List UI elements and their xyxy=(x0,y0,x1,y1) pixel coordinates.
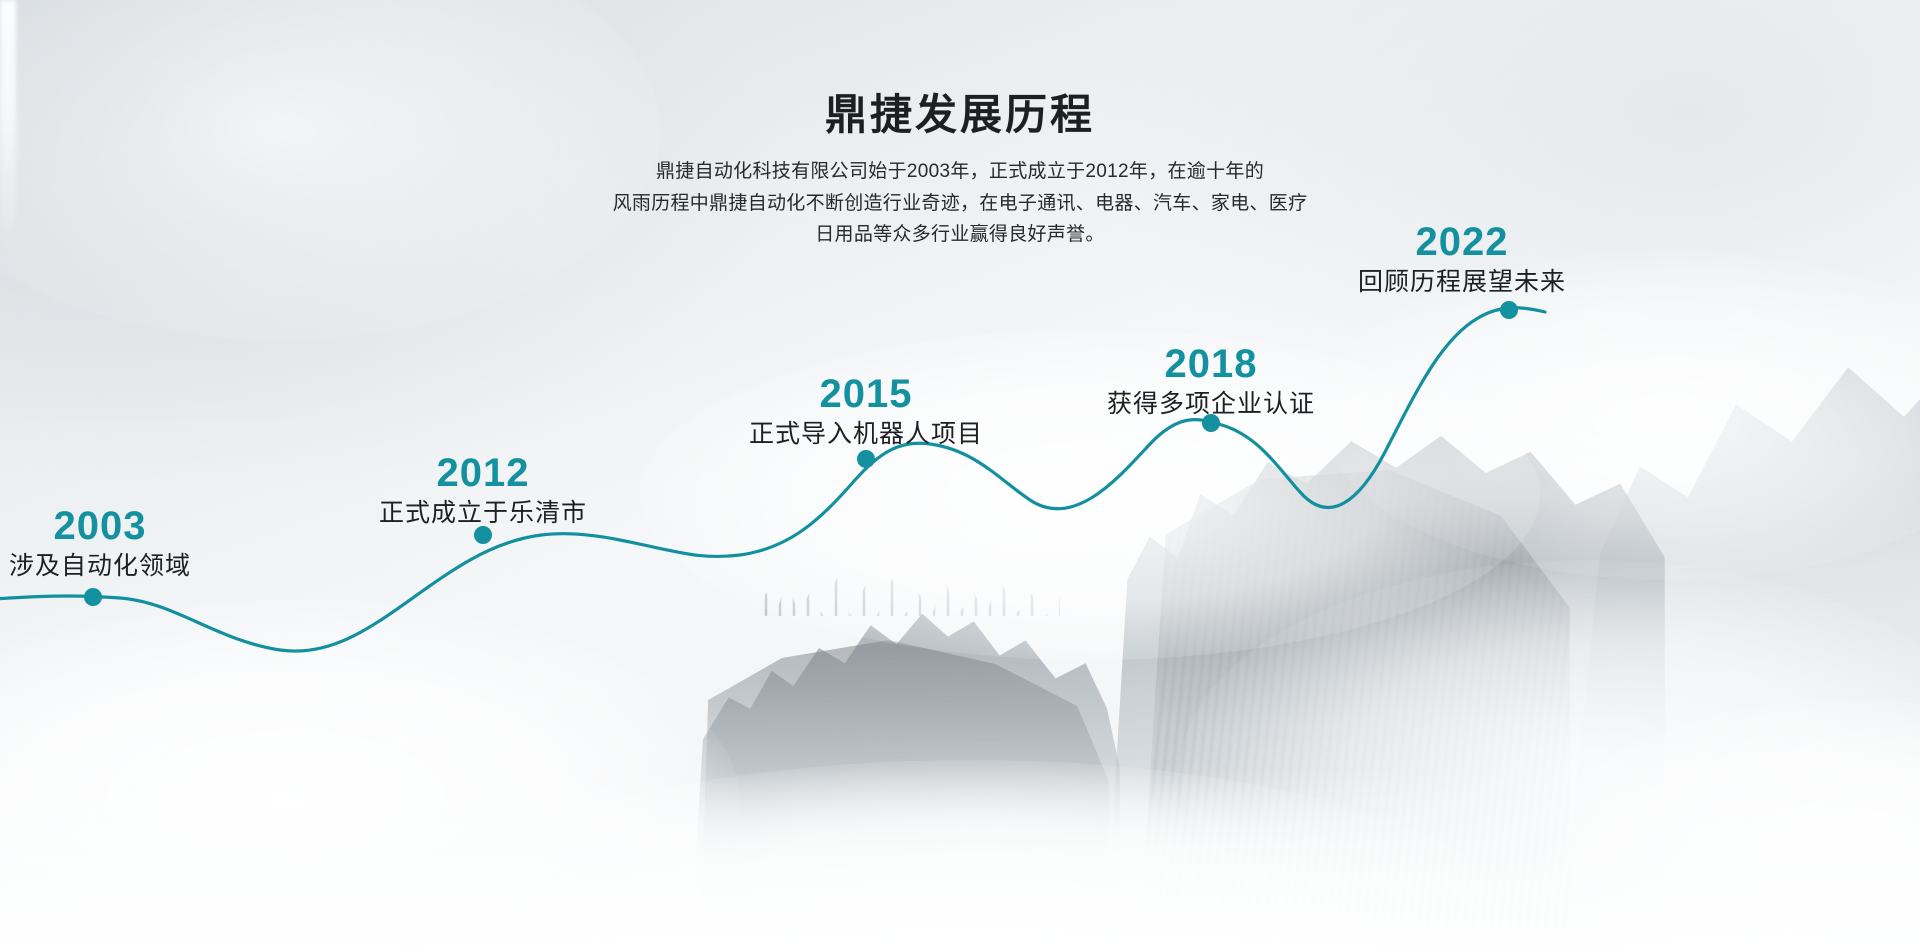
page-title: 鼎捷发展历程 xyxy=(0,92,1920,138)
page-description-line-3: 日用品等众多行业赢得良好声誉。 xyxy=(0,219,1920,250)
milestone-event-2012: 正式成立于乐清市 xyxy=(379,498,587,528)
header: 鼎捷发展历程 鼎捷自动化科技有限公司始于2003年，正式成立于2012年，在逾十… xyxy=(0,92,1920,250)
timeline-dot-2012[interactable] xyxy=(474,526,492,544)
milestone-year-2015: 2015 xyxy=(749,373,983,415)
milestone-2018[interactable]: 2018获得多项企业认证 xyxy=(1107,343,1315,419)
timeline-dot-2022[interactable] xyxy=(1500,301,1518,319)
milestone-2015[interactable]: 2015正式导入机器人项目 xyxy=(749,373,983,449)
timeline-dot-2015[interactable] xyxy=(857,450,875,468)
timeline-infographic: 鼎捷发展历程 鼎捷自动化科技有限公司始于2003年，正式成立于2012年，在逾十… xyxy=(0,0,1920,950)
milestone-event-2022: 回顾历程展望未来 xyxy=(1358,267,1566,297)
timeline-dot-2003[interactable] xyxy=(84,588,102,606)
milestone-event-2003: 涉及自动化领域 xyxy=(9,551,191,581)
milestone-year-2018: 2018 xyxy=(1107,343,1315,385)
milestone-event-2015: 正式导入机器人项目 xyxy=(749,419,983,449)
page-description: 鼎捷自动化科技有限公司始于2003年，正式成立于2012年，在逾十年的 风雨历程… xyxy=(0,156,1920,250)
milestone-2012[interactable]: 2012正式成立于乐清市 xyxy=(379,452,587,528)
milestone-2022[interactable]: 2022回顾历程展望未来 xyxy=(1358,221,1566,297)
page-description-line-1: 鼎捷自动化科技有限公司始于2003年，正式成立于2012年，在逾十年的 xyxy=(0,156,1920,187)
milestone-year-2012: 2012 xyxy=(379,452,587,494)
milestone-year-2022: 2022 xyxy=(1358,221,1566,263)
milestone-event-2018: 获得多项企业认证 xyxy=(1107,389,1315,419)
milestone-year-2003: 2003 xyxy=(9,505,191,547)
milestone-2003[interactable]: 2003涉及自动化领域 xyxy=(9,505,191,581)
page-description-line-2: 风雨历程中鼎捷自动化不断创造行业奇迹，在电子通讯、电器、汽车、家电、医疗 xyxy=(0,188,1920,219)
